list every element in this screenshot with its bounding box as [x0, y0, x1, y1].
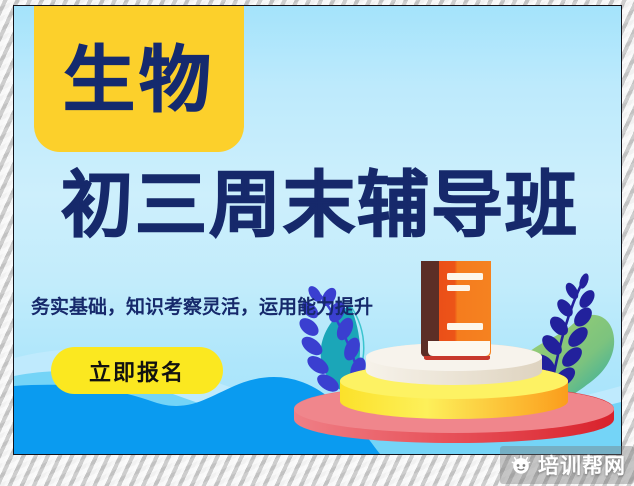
enroll-now-button[interactable]: 立即报名	[51, 347, 223, 394]
podium-book-illustration	[284, 261, 622, 446]
subject-badge-label: 生物	[63, 44, 215, 116]
course-promo-poster: 生物 初三周末辅导班 务实基础，知识考察灵活，运用能力提升 立即报名	[13, 5, 622, 455]
enroll-now-label: 立即报名	[89, 355, 185, 387]
orange-book-icon	[421, 261, 491, 360]
subject-badge: 生物	[34, 5, 244, 152]
page-title: 初三周末辅导班	[24, 169, 616, 241]
sun-smiley-icon	[510, 454, 532, 476]
watermark: 培训帮网	[500, 446, 634, 484]
subtitle-text: 务实基础，知识考察灵活，运用能力提升	[31, 292, 373, 319]
watermark-label: 培训帮网	[538, 450, 626, 480]
screenshot-frame: 生物 初三周末辅导班 务实基础，知识考察灵活，运用能力提升 立即报名 培训帮网	[0, 0, 634, 486]
